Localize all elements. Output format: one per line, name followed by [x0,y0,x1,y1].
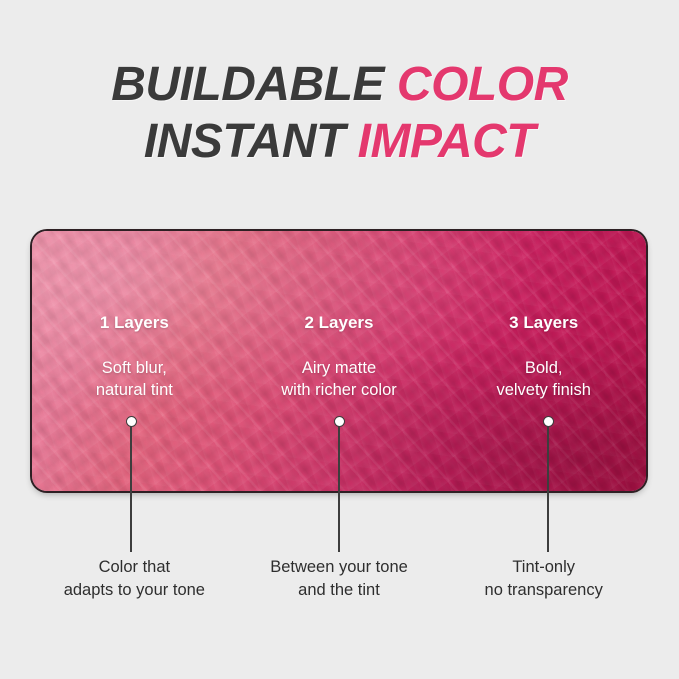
headline-line-2: INSTANT IMPACT [0,113,679,170]
headline-line-1: BUILDABLE COLOR [0,56,679,113]
headline-word-color: COLOR [397,58,568,111]
caption-3-line-1: Tint-only [441,556,646,579]
headline-word-instant: INSTANT [144,115,345,168]
caption-row: Color that adapts to your tone Between y… [32,556,646,602]
page-title: BUILDABLE COLOR INSTANT IMPACT [0,56,679,170]
foil-texture-layer-a [32,231,646,491]
caption-2-line-2: and the tint [237,579,442,602]
caption-3-line-2: no transparency [441,579,646,602]
caption-2-line-1: Between your tone [237,556,442,579]
headline-word-impact: IMPACT [358,115,535,168]
swatch-gradient-surface [32,231,646,491]
foil-texture-layer-b [32,231,646,491]
sheen-overlay [32,231,646,491]
color-swatch-panel: 1 Layers Soft blur, natural tint 2 Layer… [32,231,646,491]
caption-1-line-1: Color that [32,556,237,579]
caption-1-line-2: adapts to your tone [32,579,237,602]
headline-word-buildable: BUILDABLE [111,58,384,111]
caption-2: Between your tone and the tint [237,556,442,602]
caption-1: Color that adapts to your tone [32,556,237,602]
caption-3: Tint-only no transparency [441,556,646,602]
